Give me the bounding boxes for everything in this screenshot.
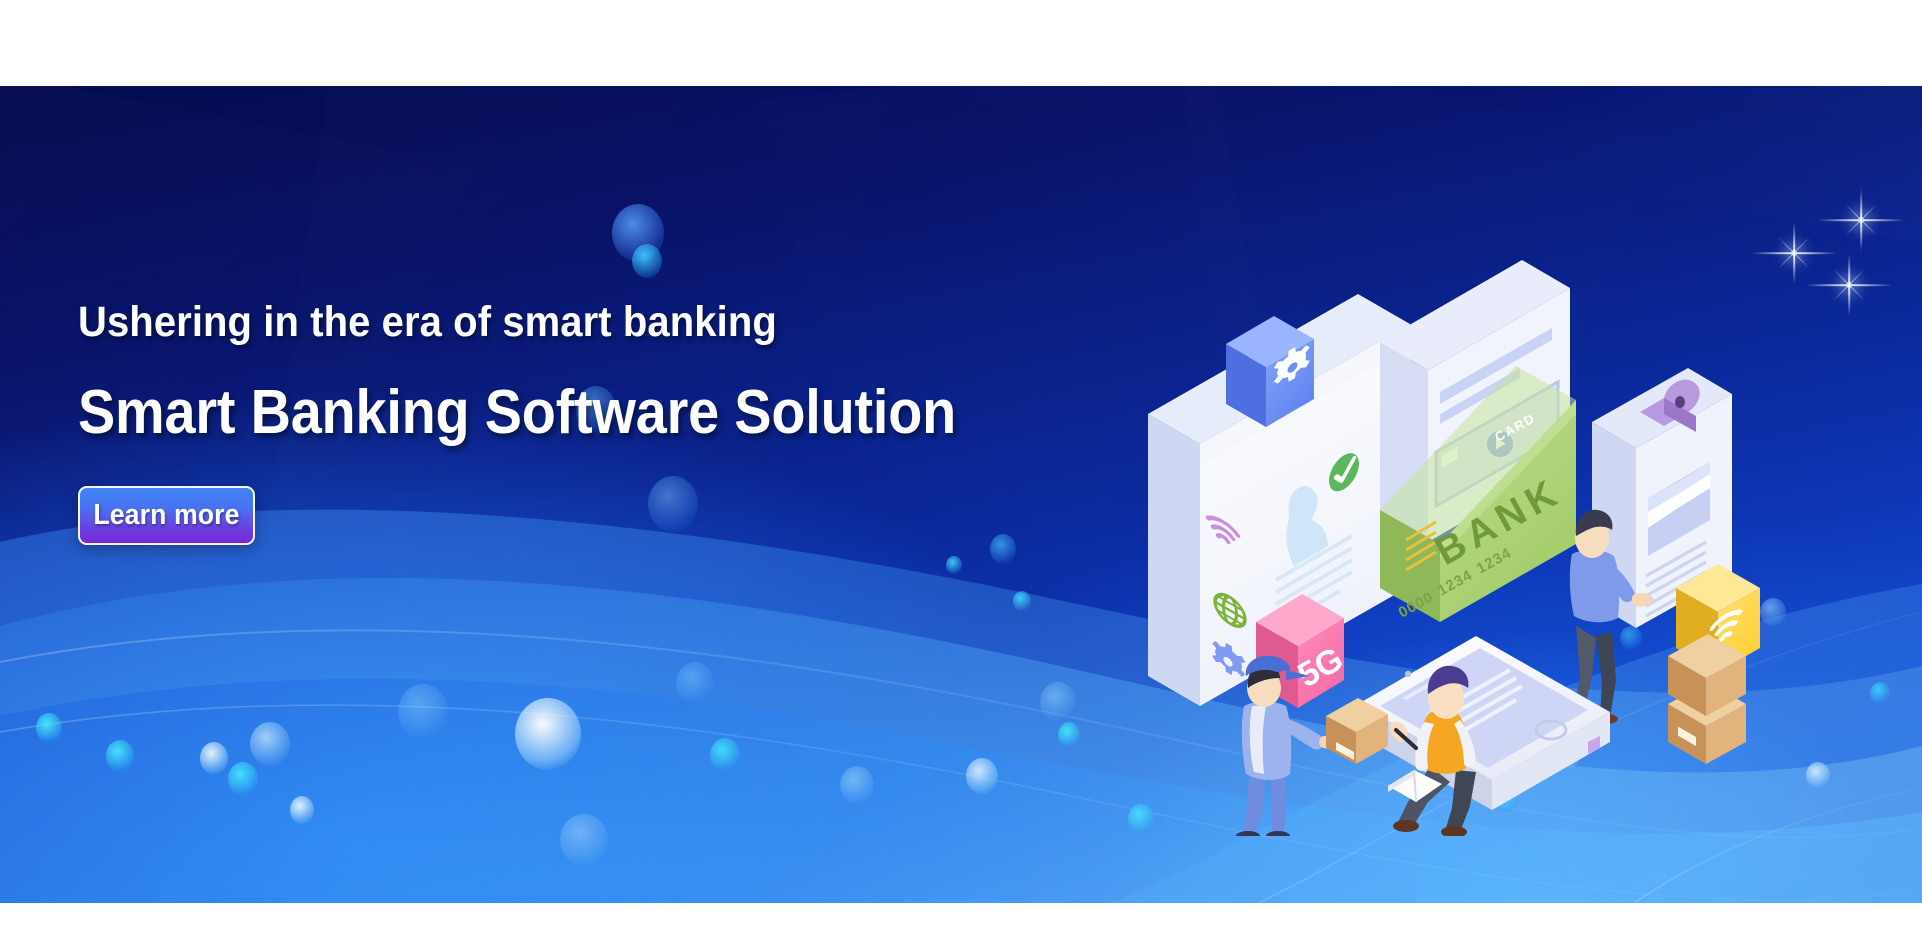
bokeh-circle bbox=[676, 662, 714, 704]
hero-copy: Ushering in the era of smart banking Sma… bbox=[78, 301, 978, 545]
bokeh-circle bbox=[710, 738, 740, 772]
bokeh-circle bbox=[290, 796, 314, 824]
bokeh-circle bbox=[966, 758, 998, 794]
bokeh-circle bbox=[990, 534, 1016, 564]
bokeh-circle bbox=[228, 762, 258, 796]
hero-eyebrow: Ushering in the era of smart banking bbox=[78, 301, 915, 345]
bokeh-circle bbox=[106, 740, 134, 772]
learn-more-label: Learn more bbox=[93, 499, 239, 532]
bokeh-circle bbox=[200, 742, 228, 774]
bokeh-circle bbox=[1013, 591, 1031, 611]
isometric-banking-illustration: BANK CARD 0000 1234 1234 5G bbox=[1140, 236, 1760, 836]
hero-banner: Ushering in the era of smart banking Sma… bbox=[0, 86, 1922, 903]
sparkle-star-icon bbox=[1793, 252, 1795, 254]
hero-headline: Smart Banking Software Solution bbox=[78, 345, 888, 444]
bokeh-circle bbox=[946, 556, 962, 574]
bokeh-circle bbox=[398, 684, 448, 740]
bokeh-circle bbox=[36, 713, 62, 743]
bokeh-circle bbox=[1058, 722, 1080, 748]
bokeh-circle bbox=[632, 244, 662, 278]
sparkle-star-icon bbox=[1860, 219, 1862, 221]
bokeh-circle bbox=[1806, 762, 1830, 788]
bokeh-circle bbox=[250, 722, 290, 766]
bokeh-circle bbox=[515, 698, 581, 770]
bokeh-circle bbox=[560, 814, 608, 866]
bokeh-circle bbox=[1040, 682, 1076, 722]
learn-more-button[interactable]: Learn more bbox=[78, 486, 255, 545]
sparkle-star-icon bbox=[1848, 284, 1850, 286]
bokeh-circle bbox=[1760, 598, 1786, 626]
bokeh-circle bbox=[1870, 682, 1890, 704]
page-root: Ushering in the era of smart banking Sma… bbox=[0, 0, 1922, 950]
parcel-stack bbox=[1668, 634, 1746, 764]
bokeh-circle bbox=[840, 766, 874, 804]
